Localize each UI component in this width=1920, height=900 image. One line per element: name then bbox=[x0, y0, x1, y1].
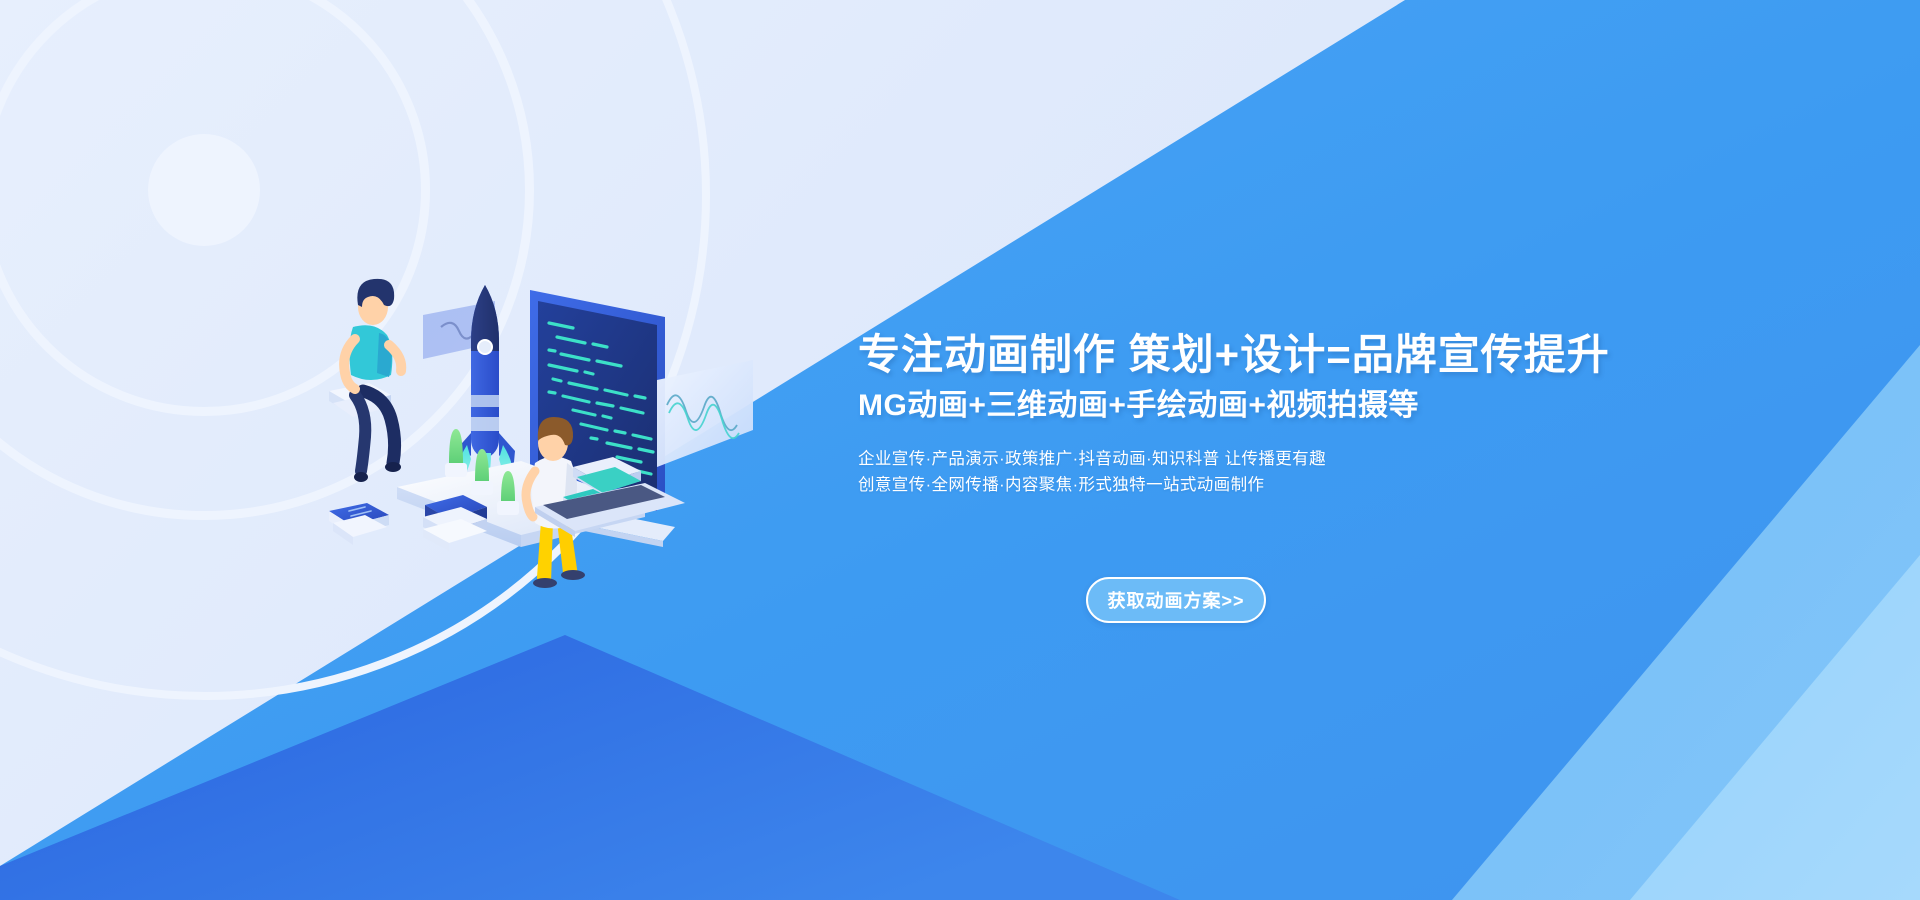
description-line-2: 创意宣传·全网传播·内容聚焦·形式独特一站式动画制作 bbox=[858, 472, 1498, 499]
cta-container: 获取动画方案>> bbox=[1086, 577, 1266, 623]
page-title: 专注动画制作 策划+设计=品牌宣传提升 bbox=[858, 330, 1498, 380]
hero-banner: 专注动画制作 策划+设计=品牌宣传提升 MG动画+三维动画+手绘动画+视频拍摄等… bbox=[0, 0, 1920, 900]
page-subtitle: MG动画+三维动画+手绘动画+视频拍摄等 bbox=[858, 388, 1498, 424]
hero-illustration bbox=[345, 255, 765, 585]
description-block: 企业宣传·产品演示·政策推广·抖音动画·知识科普 让传播更有趣 创意宣传·全网传… bbox=[858, 446, 1498, 499]
isometric-scene bbox=[345, 255, 765, 585]
decorative-ring-core bbox=[148, 134, 260, 246]
description-line-1: 企业宣传·产品演示·政策推广·抖音动画·知识科普 让传播更有趣 bbox=[858, 446, 1498, 473]
chart-panel bbox=[657, 360, 753, 467]
get-animation-plan-button[interactable]: 获取动画方案>> bbox=[1086, 577, 1266, 623]
box-blue-center bbox=[423, 495, 487, 551]
copy-block: 专注动画制作 策划+设计=品牌宣传提升 MG动画+三维动画+手绘动画+视频拍摄等… bbox=[858, 330, 1498, 499]
